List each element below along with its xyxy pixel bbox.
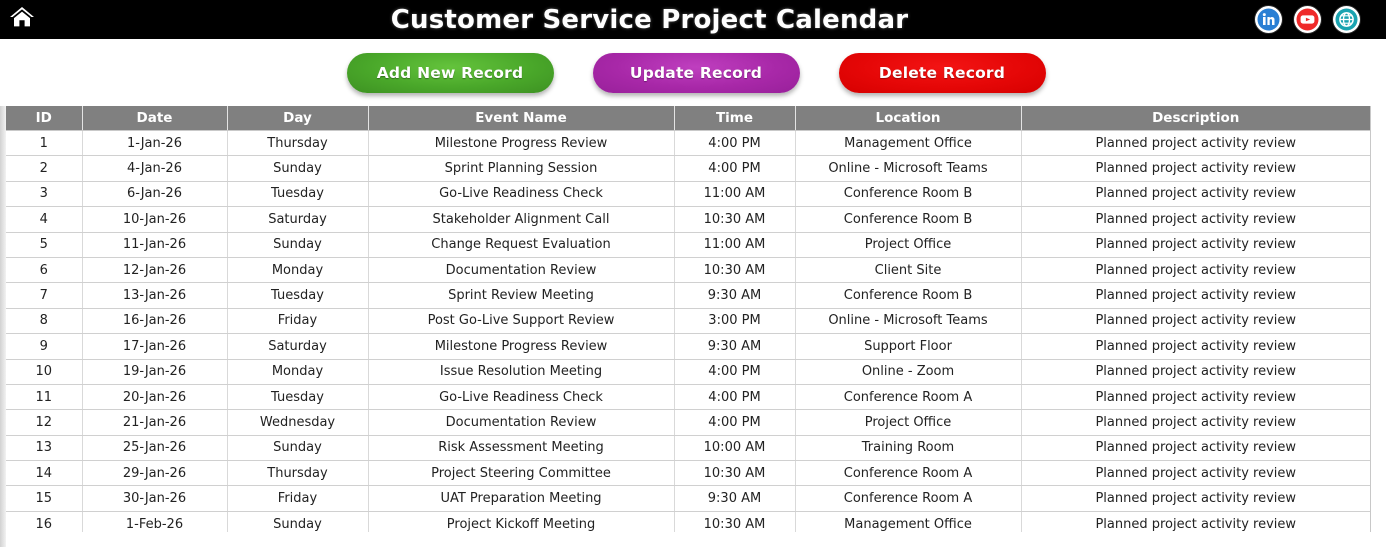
home-icon (9, 5, 35, 34)
records-table-container: ID Date Day Event Name Time Location Des… (6, 106, 1371, 537)
cell-location[interactable]: Online - Microsoft Teams (795, 156, 1021, 181)
cell-day[interactable]: Sunday (227, 232, 368, 257)
table-header: ID Date Day Event Name Time Location Des… (6, 106, 1370, 131)
cell-location[interactable]: Project Office (795, 410, 1021, 435)
action-toolbar: Add New Record Update Record Delete Reco… (0, 39, 1386, 106)
cell-time[interactable]: 9:30 AM (674, 334, 795, 359)
cell-id[interactable]: 6 (6, 257, 82, 282)
cell-event-name[interactable]: UAT Preparation Meeting (368, 486, 674, 511)
table-row[interactable]: 816-Jan-26FridayPost Go-Live Support Rev… (6, 308, 1370, 333)
cell-date[interactable]: 12-Jan-26 (82, 257, 227, 282)
cell-description[interactable]: Planned project activity review (1021, 359, 1370, 384)
content-area-blank (6, 532, 1386, 547)
cell-time[interactable]: 10:30 AM (674, 257, 795, 282)
cell-event-name[interactable]: Documentation Review (368, 257, 674, 282)
cell-id[interactable]: 7 (6, 283, 82, 308)
cell-location[interactable]: Conference Room A (795, 384, 1021, 409)
column-header-event-name[interactable]: Event Name (368, 106, 674, 131)
cell-time[interactable]: 10:30 AM (674, 207, 795, 232)
cell-location[interactable]: Conference Room A (795, 461, 1021, 486)
add-new-record-button[interactable]: Add New Record (347, 53, 554, 93)
table-row[interactable]: 713-Jan-26TuesdaySprint Review Meeting9:… (6, 283, 1370, 308)
table-row[interactable]: 11-Jan-26ThursdayMilestone Progress Revi… (6, 131, 1370, 156)
cell-date[interactable]: 1-Jan-26 (82, 131, 227, 156)
cell-location[interactable]: Support Floor (795, 334, 1021, 359)
cell-location[interactable]: Project Office (795, 232, 1021, 257)
table-body: 11-Jan-26ThursdayMilestone Progress Revi… (6, 131, 1370, 537)
cell-day[interactable]: Sunday (227, 435, 368, 460)
cell-day[interactable]: Thursday (227, 131, 368, 156)
cell-location[interactable]: Training Room (795, 435, 1021, 460)
cell-location[interactable]: Conference Room B (795, 207, 1021, 232)
cell-event-name[interactable]: Post Go-Live Support Review (368, 308, 674, 333)
cell-day[interactable]: Tuesday (227, 283, 368, 308)
cell-time[interactable]: 4:00 PM (674, 410, 795, 435)
cell-event-name[interactable]: Milestone Progress Review (368, 131, 674, 156)
cell-description[interactable]: Planned project activity review (1021, 232, 1370, 257)
cell-day[interactable]: Sunday (227, 156, 368, 181)
cell-day[interactable]: Saturday (227, 334, 368, 359)
table-row[interactable]: 1429-Jan-26ThursdayProject Steering Comm… (6, 461, 1370, 486)
column-header-id[interactable]: ID (6, 106, 82, 131)
cell-location[interactable]: Management Office (795, 131, 1021, 156)
cell-id[interactable]: 11 (6, 384, 82, 409)
cell-day[interactable]: Thursday (227, 461, 368, 486)
cell-id[interactable]: 9 (6, 334, 82, 359)
cell-date[interactable]: 13-Jan-26 (82, 283, 227, 308)
cell-location[interactable]: Conference Room B (795, 181, 1021, 206)
cell-event-name[interactable]: Sprint Review Meeting (368, 283, 674, 308)
cell-description[interactable]: Planned project activity review (1021, 257, 1370, 282)
cell-time[interactable]: 10:30 AM (674, 461, 795, 486)
cell-time[interactable]: 11:00 AM (674, 232, 795, 257)
cell-time[interactable]: 9:30 AM (674, 486, 795, 511)
cell-event-name[interactable]: Go-Live Readiness Check (368, 181, 674, 206)
cell-date[interactable]: 6-Jan-26 (82, 181, 227, 206)
cell-location[interactable]: Client Site (795, 257, 1021, 282)
cell-day[interactable]: Wednesday (227, 410, 368, 435)
cell-time[interactable]: 4:00 PM (674, 384, 795, 409)
table-header-row: ID Date Day Event Name Time Location Des… (6, 106, 1370, 131)
cell-day[interactable]: Friday (227, 486, 368, 511)
website-globe-icon[interactable] (1333, 6, 1360, 33)
table-row[interactable]: 1221-Jan-26WednesdayDocumentation Review… (6, 410, 1370, 435)
cell-time[interactable]: 4:00 PM (674, 359, 795, 384)
cell-id[interactable]: 14 (6, 461, 82, 486)
cell-time[interactable]: 4:00 PM (674, 156, 795, 181)
cell-description[interactable]: Planned project activity review (1021, 410, 1370, 435)
cell-id[interactable]: 1 (6, 131, 82, 156)
cell-day[interactable]: Monday (227, 359, 368, 384)
cell-date[interactable]: 20-Jan-26 (82, 384, 227, 409)
page-title: Customer Service Project Calendar (44, 5, 1255, 35)
youtube-icon[interactable] (1294, 6, 1321, 33)
linkedin-icon[interactable] (1255, 6, 1282, 33)
cell-id[interactable]: 5 (6, 232, 82, 257)
table-row[interactable]: 917-Jan-26SaturdayMilestone Progress Rev… (6, 334, 1370, 359)
cell-event-name[interactable]: Documentation Review (368, 410, 674, 435)
cell-time[interactable]: 3:00 PM (674, 308, 795, 333)
cell-location[interactable]: Conference Room B (795, 283, 1021, 308)
cell-description[interactable]: Planned project activity review (1021, 461, 1370, 486)
table-row[interactable]: 24-Jan-26SundaySprint Planning Session4:… (6, 156, 1370, 181)
cell-event-name[interactable]: Milestone Progress Review (368, 334, 674, 359)
cell-date[interactable]: 16-Jan-26 (82, 308, 227, 333)
cell-time[interactable]: 11:00 AM (674, 181, 795, 206)
cell-event-name[interactable]: Sprint Planning Session (368, 156, 674, 181)
cell-event-name[interactable]: Stakeholder Alignment Call (368, 207, 674, 232)
table-row[interactable]: 511-Jan-26SundayChange Request Evaluatio… (6, 232, 1370, 257)
cell-description[interactable]: Planned project activity review (1021, 435, 1370, 460)
cell-id[interactable]: 2 (6, 156, 82, 181)
column-header-day[interactable]: Day (227, 106, 368, 131)
app-header: Customer Service Project Calendar (0, 0, 1386, 39)
cell-id[interactable]: 12 (6, 410, 82, 435)
cell-date[interactable]: 21-Jan-26 (82, 410, 227, 435)
cell-description[interactable]: Planned project activity review (1021, 207, 1370, 232)
cell-day[interactable]: Tuesday (227, 181, 368, 206)
table-row[interactable]: 1530-Jan-26FridayUAT Preparation Meeting… (6, 486, 1370, 511)
cell-date[interactable]: 4-Jan-26 (82, 156, 227, 181)
cell-date[interactable]: 30-Jan-26 (82, 486, 227, 511)
cell-description[interactable]: Planned project activity review (1021, 486, 1370, 511)
table-row[interactable]: 1019-Jan-26MondayIssue Resolution Meetin… (6, 359, 1370, 384)
cell-date[interactable]: 29-Jan-26 (82, 461, 227, 486)
home-button[interactable] (0, 0, 44, 39)
cell-date[interactable]: 19-Jan-26 (82, 359, 227, 384)
column-header-time[interactable]: Time (674, 106, 795, 131)
cell-time[interactable]: 9:30 AM (674, 283, 795, 308)
cell-location[interactable]: Online - Microsoft Teams (795, 308, 1021, 333)
cell-event-name[interactable]: Issue Resolution Meeting (368, 359, 674, 384)
records-table: ID Date Day Event Name Time Location Des… (6, 106, 1370, 537)
cell-date[interactable]: 17-Jan-26 (82, 334, 227, 359)
cell-description[interactable]: Planned project activity review (1021, 334, 1370, 359)
cell-location[interactable]: Conference Room A (795, 486, 1021, 511)
cell-id[interactable]: 8 (6, 308, 82, 333)
social-links (1255, 6, 1386, 33)
table-row[interactable]: 612-Jan-26MondayDocumentation Review10:3… (6, 257, 1370, 282)
cell-id[interactable]: 10 (6, 359, 82, 384)
cell-id[interactable]: 4 (6, 207, 82, 232)
delete-record-button[interactable]: Delete Record (839, 53, 1046, 93)
cell-description[interactable]: Planned project activity review (1021, 156, 1370, 181)
column-header-location[interactable]: Location (795, 106, 1021, 131)
cell-date[interactable]: 10-Jan-26 (82, 207, 227, 232)
cell-day[interactable]: Monday (227, 257, 368, 282)
cell-time[interactable]: 10:00 AM (674, 435, 795, 460)
cell-event-name[interactable]: Risk Assessment Meeting (368, 435, 674, 460)
cell-description[interactable]: Planned project activity review (1021, 181, 1370, 206)
column-header-date[interactable]: Date (82, 106, 227, 131)
cell-id[interactable]: 3 (6, 181, 82, 206)
cell-id[interactable]: 13 (6, 435, 82, 460)
table-row[interactable]: 410-Jan-26SaturdayStakeholder Alignment … (6, 207, 1370, 232)
cell-day[interactable]: Tuesday (227, 384, 368, 409)
cell-day[interactable]: Friday (227, 308, 368, 333)
cell-description[interactable]: Planned project activity review (1021, 131, 1370, 156)
column-header-description[interactable]: Description (1021, 106, 1370, 131)
cell-event-name[interactable]: Change Request Evaluation (368, 232, 674, 257)
cell-location[interactable]: Online - Zoom (795, 359, 1021, 384)
update-record-button[interactable]: Update Record (593, 53, 800, 93)
cell-time[interactable]: 4:00 PM (674, 131, 795, 156)
cell-id[interactable]: 15 (6, 486, 82, 511)
cell-day[interactable]: Saturday (227, 207, 368, 232)
cell-date[interactable]: 25-Jan-26 (82, 435, 227, 460)
table-row[interactable]: 36-Jan-26TuesdayGo-Live Readiness Check1… (6, 181, 1370, 206)
cell-event-name[interactable]: Project Steering Committee (368, 461, 674, 486)
cell-event-name[interactable]: Go-Live Readiness Check (368, 384, 674, 409)
cell-description[interactable]: Planned project activity review (1021, 384, 1370, 409)
cell-description[interactable]: Planned project activity review (1021, 283, 1370, 308)
table-row[interactable]: 1325-Jan-26SundayRisk Assessment Meeting… (6, 435, 1370, 460)
cell-date[interactable]: 11-Jan-26 (82, 232, 227, 257)
table-row[interactable]: 1120-Jan-26TuesdayGo-Live Readiness Chec… (6, 384, 1370, 409)
cell-description[interactable]: Planned project activity review (1021, 308, 1370, 333)
